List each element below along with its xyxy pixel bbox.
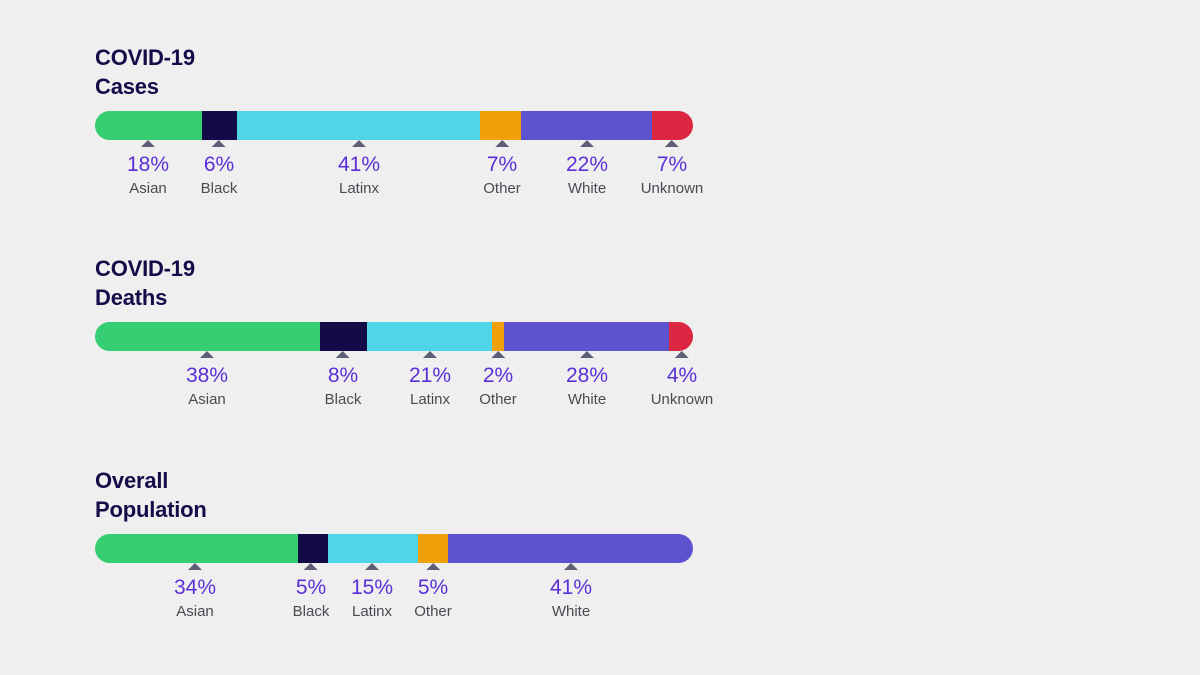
marker-percent-value: 18% [127, 153, 169, 177]
marker-group-label: Black [201, 178, 238, 200]
bar-wrap-overall-population: 34%Asian5%Black15%Latinx5%Other41%White [95, 534, 693, 633]
triangle-up-icon [141, 140, 155, 147]
marker-black: 5%Black [293, 563, 330, 623]
triangle-up-icon [675, 351, 689, 358]
marker-group-label: Unknown [651, 389, 714, 411]
bar-segment-unknown[interactable] [669, 322, 693, 351]
bar-segment-asian[interactable] [95, 322, 320, 351]
marker-white: 41%White [550, 563, 592, 623]
marker-group-label: Black [293, 601, 330, 623]
marker-percent-value: 22% [566, 153, 608, 177]
marker-group-label: Black [325, 389, 362, 411]
stacked-bar-overall-population[interactable] [95, 534, 693, 563]
marker-percent-value: 21% [409, 364, 451, 388]
marker-group-label: Asian [127, 178, 169, 200]
marker-percent-value: 4% [651, 364, 714, 388]
triangle-up-icon [365, 563, 379, 570]
marker-percent-value: 41% [550, 576, 592, 600]
marker-percent-value: 5% [293, 576, 330, 600]
marker-group-label: White [550, 601, 592, 623]
bar-segment-other[interactable] [418, 534, 448, 563]
triangle-up-icon [352, 140, 366, 147]
marker-other: 2%Other [479, 351, 517, 411]
bar-segment-asian[interactable] [95, 111, 202, 140]
marker-group-label: Other [479, 389, 517, 411]
chart-title-overall-population: Overall Population [95, 467, 693, 524]
marker-asian: 34%Asian [174, 563, 216, 623]
markers-covid-cases: 18%Asian6%Black41%Latinx7%Other22%White7… [95, 140, 693, 210]
triangle-up-icon [426, 563, 440, 570]
marker-latinx: 15%Latinx [351, 563, 393, 623]
marker-percent-value: 15% [351, 576, 393, 600]
marker-black: 8%Black [325, 351, 362, 411]
triangle-up-icon [580, 351, 594, 358]
bar-segment-unknown[interactable] [652, 111, 693, 140]
marker-group-label: Latinx [409, 389, 451, 411]
marker-group-label: Other [483, 178, 521, 200]
triangle-up-icon [336, 351, 350, 358]
bar-segment-black[interactable] [202, 111, 238, 140]
marker-percent-value: 6% [201, 153, 238, 177]
marker-group-label: White [566, 178, 608, 200]
bar-segment-asian[interactable] [95, 534, 298, 563]
marker-group-label: Latinx [351, 601, 393, 623]
infographic-canvas: COVID-19 Cases 18%Asian6%Black41%Latinx7… [0, 0, 1200, 675]
chart-block-overall-population: Overall Population 34%Asian5%Black15%Lat… [95, 467, 693, 633]
stacked-bar-covid-cases[interactable] [95, 111, 693, 140]
marker-percent-value: 7% [483, 153, 521, 177]
marker-percent-value: 34% [174, 576, 216, 600]
marker-other: 7%Other [483, 140, 521, 200]
marker-white: 22%White [566, 140, 608, 200]
bar-segment-white[interactable] [448, 534, 693, 563]
chart-block-covid-cases: COVID-19 Cases 18%Asian6%Black41%Latinx7… [95, 44, 693, 210]
marker-black: 6%Black [201, 140, 238, 200]
marker-percent-value: 7% [641, 153, 704, 177]
marker-other: 5%Other [414, 563, 452, 623]
markers-overall-population: 34%Asian5%Black15%Latinx5%Other41%White [95, 563, 693, 633]
bar-segment-black[interactable] [320, 322, 367, 351]
marker-percent-value: 2% [479, 364, 517, 388]
bar-segment-white[interactable] [521, 111, 651, 140]
chart-block-covid-deaths: COVID-19 Deaths 38%Asian8%Black21%Latinx… [95, 255, 693, 421]
markers-covid-deaths: 38%Asian8%Black21%Latinx2%Other28%White4… [95, 351, 693, 421]
triangle-up-icon [665, 140, 679, 147]
marker-unknown: 7%Unknown [641, 140, 704, 200]
marker-group-label: Asian [186, 389, 228, 411]
marker-percent-value: 38% [186, 364, 228, 388]
marker-white: 28%White [566, 351, 608, 411]
marker-group-label: Asian [174, 601, 216, 623]
bar-segment-black[interactable] [298, 534, 328, 563]
marker-asian: 18%Asian [127, 140, 169, 200]
marker-unknown: 4%Unknown [651, 351, 714, 411]
triangle-up-icon [564, 563, 578, 570]
marker-latinx: 41%Latinx [338, 140, 380, 200]
stacked-bar-covid-deaths[interactable] [95, 322, 693, 351]
triangle-up-icon [200, 351, 214, 358]
marker-percent-value: 41% [338, 153, 380, 177]
triangle-up-icon [580, 140, 594, 147]
bar-segment-other[interactable] [480, 111, 521, 140]
marker-latinx: 21%Latinx [409, 351, 451, 411]
chart-title-covid-cases: COVID-19 Cases [95, 44, 693, 101]
marker-percent-value: 5% [414, 576, 452, 600]
triangle-up-icon [491, 351, 505, 358]
triangle-up-icon [304, 563, 318, 570]
bar-segment-latinx[interactable] [328, 534, 418, 563]
chart-title-covid-deaths: COVID-19 Deaths [95, 255, 693, 312]
marker-asian: 38%Asian [186, 351, 228, 411]
marker-group-label: Other [414, 601, 452, 623]
bar-segment-other[interactable] [492, 322, 504, 351]
triangle-up-icon [188, 563, 202, 570]
marker-group-label: Unknown [641, 178, 704, 200]
marker-group-label: Latinx [338, 178, 380, 200]
bar-wrap-covid-deaths: 38%Asian8%Black21%Latinx2%Other28%White4… [95, 322, 693, 421]
bar-wrap-covid-cases: 18%Asian6%Black41%Latinx7%Other22%White7… [95, 111, 693, 210]
triangle-up-icon [495, 140, 509, 147]
bar-segment-latinx[interactable] [367, 322, 491, 351]
marker-percent-value: 28% [566, 364, 608, 388]
bar-segment-latinx[interactable] [237, 111, 480, 140]
triangle-up-icon [423, 351, 437, 358]
marker-group-label: White [566, 389, 608, 411]
triangle-up-icon [212, 140, 226, 147]
bar-segment-white[interactable] [504, 322, 670, 351]
marker-percent-value: 8% [325, 364, 362, 388]
